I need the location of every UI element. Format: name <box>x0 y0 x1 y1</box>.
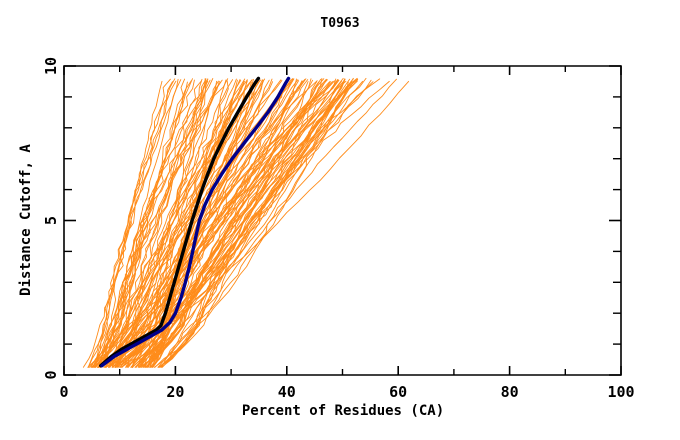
y-tick-label: 10 <box>42 57 60 75</box>
chart-page: T0963 Percent of Residues (CA) Distance … <box>0 0 680 440</box>
y-tick-label: 0 <box>42 370 60 379</box>
y-axis-title: Distance Cutoff, A <box>18 144 34 296</box>
x-axis-title: Percent of Residues (CA) <box>242 403 444 419</box>
x-tick-label: 100 <box>607 383 634 401</box>
x-tick-label: 20 <box>166 383 184 401</box>
x-tick-label: 40 <box>278 383 296 401</box>
y-tick-label: 5 <box>42 216 60 225</box>
x-tick-label: 0 <box>59 383 68 401</box>
x-tick-label: 60 <box>389 383 407 401</box>
x-tick-label: 80 <box>501 383 519 401</box>
chart-title: T0963 <box>320 16 359 31</box>
chart-canvas: T0963 Percent of Residues (CA) Distance … <box>0 0 680 440</box>
